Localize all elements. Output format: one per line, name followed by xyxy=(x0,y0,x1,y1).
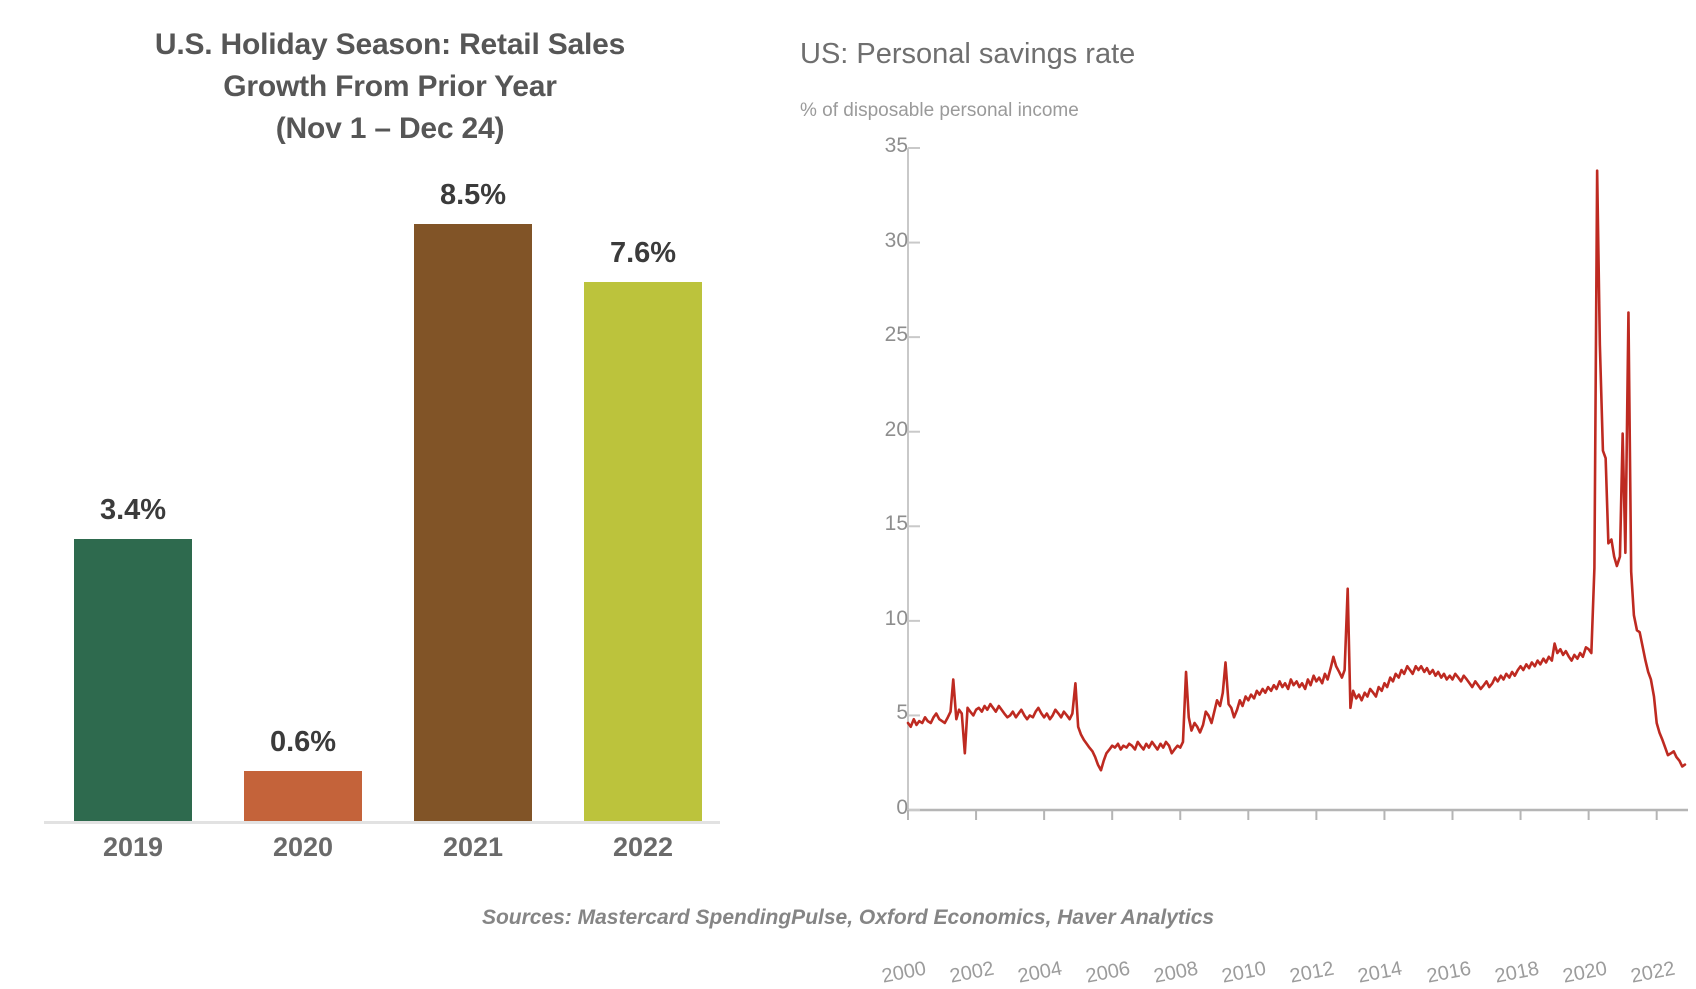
savings-rate-line xyxy=(908,171,1685,771)
bar-column-2021[interactable]: 8.5% xyxy=(414,179,532,821)
bar-xlabel-2022: 2022 xyxy=(584,832,702,863)
bar-chart-title-line-2: Growth From Prior Year xyxy=(40,66,740,108)
bar-rect-2021[interactable] xyxy=(414,224,532,821)
y-tick-label-25: 25 xyxy=(848,323,908,347)
bar-rect-2020[interactable] xyxy=(244,771,362,821)
line-chart-panel: US: Personal savings rate % of disposabl… xyxy=(790,0,1696,900)
y-tick-label-10: 10 xyxy=(848,607,908,631)
bar-xlabel-2021: 2021 xyxy=(414,832,532,863)
y-tick-label-20: 20 xyxy=(848,418,908,442)
bar-chart-category-axis: 2019 2020 2021 2022 xyxy=(44,832,720,882)
x-tick-label-2008: 2008 xyxy=(1152,958,1200,989)
bar-xlabel-2020: 2020 xyxy=(244,832,362,863)
bar-xlabel-2019: 2019 xyxy=(74,832,192,863)
y-tick-label-5: 5 xyxy=(848,701,908,725)
x-tick-label-2022: 2022 xyxy=(1629,958,1677,989)
bar-chart-panel: U.S. Holiday Season: Retail Sales Growth… xyxy=(0,0,790,900)
x-tick-label-2016: 2016 xyxy=(1425,958,1473,989)
y-tick-label-0: 0 xyxy=(848,796,908,820)
x-tick-label-2020: 2020 xyxy=(1561,958,1609,989)
bar-value-label-2019: 3.4% xyxy=(100,494,166,527)
x-tick-label-2004: 2004 xyxy=(1016,958,1064,989)
bar-value-label-2022: 7.6% xyxy=(610,237,676,270)
line-chart-plot-area: 05101520253035 2000200220042006200820102… xyxy=(790,140,1696,820)
x-tick-label-2002: 2002 xyxy=(948,958,996,989)
bar-chart-baseline xyxy=(44,821,720,824)
bar-chart-plot-area: 3.4% 0.6% 8.5% 7.6% xyxy=(44,200,720,824)
line-chart-subtitle: % of disposable personal income xyxy=(800,100,1079,122)
y-axis-ticks xyxy=(908,148,920,810)
bar-chart-title-line-1: U.S. Holiday Season: Retail Sales xyxy=(40,24,740,66)
y-tick-label-30: 30 xyxy=(848,229,908,253)
y-tick-label-35: 35 xyxy=(848,134,908,158)
x-axis-ticks xyxy=(908,810,1657,820)
bar-rect-2019[interactable] xyxy=(74,539,192,821)
bar-chart-title: U.S. Holiday Season: Retail Sales Growth… xyxy=(40,24,740,150)
x-tick-label-2012: 2012 xyxy=(1288,958,1336,989)
infographic-root: U.S. Holiday Season: Retail Sales Growth… xyxy=(0,0,1696,962)
line-chart-svg xyxy=(790,140,1696,820)
y-tick-label-15: 15 xyxy=(848,512,908,536)
x-tick-label-2000: 2000 xyxy=(880,958,928,989)
bar-chart-title-line-3: (Nov 1 – Dec 24) xyxy=(40,108,740,150)
x-tick-label-2010: 2010 xyxy=(1220,958,1268,989)
x-tick-label-2018: 2018 xyxy=(1493,958,1541,989)
bar-column-2020[interactable]: 0.6% xyxy=(244,726,362,821)
bar-rect-2022[interactable] xyxy=(584,282,702,821)
x-tick-label-2006: 2006 xyxy=(1084,958,1132,989)
bar-column-2022[interactable]: 7.6% xyxy=(584,237,702,821)
sources-note: Sources: Mastercard SpendingPulse, Oxfor… xyxy=(0,906,1696,930)
bar-value-label-2021: 8.5% xyxy=(440,179,506,212)
bar-value-label-2020: 0.6% xyxy=(270,726,336,759)
line-chart-title: US: Personal savings rate xyxy=(800,38,1135,71)
x-tick-label-2014: 2014 xyxy=(1356,958,1404,989)
bar-column-2019[interactable]: 3.4% xyxy=(74,494,192,821)
